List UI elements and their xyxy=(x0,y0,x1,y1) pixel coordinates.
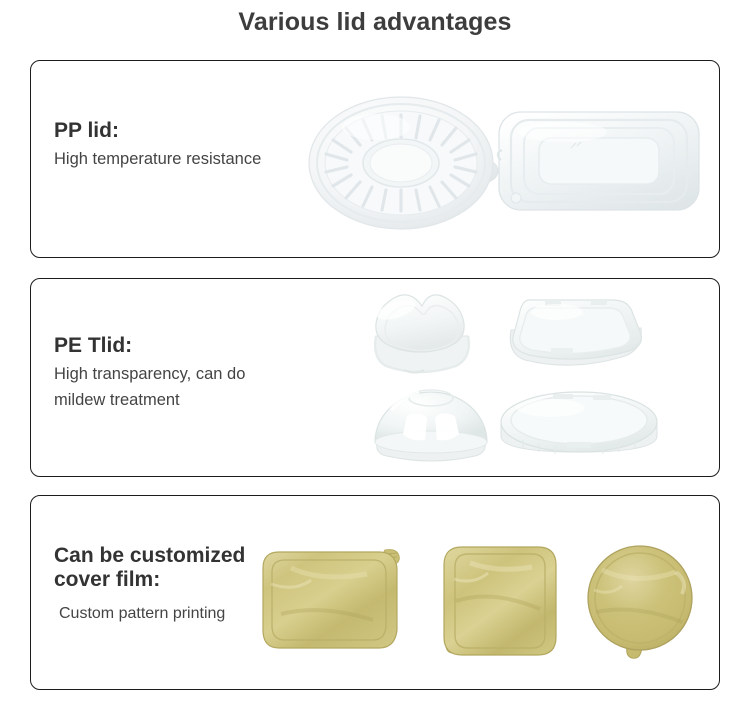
card-cover-film: Can be customized cover film: Custom pat… xyxy=(30,495,720,690)
gold-round-foil-image xyxy=(576,542,706,664)
square-pe-lid-image xyxy=(499,282,659,382)
heart-pe-lid-image xyxy=(356,284,496,384)
oval-pe-lid-image xyxy=(493,382,668,472)
card-pp-lid: PP lid: High temperature resistance xyxy=(30,60,720,258)
round-pp-lid-image xyxy=(306,91,521,236)
card-pe-title: PE Tlid: xyxy=(54,334,354,358)
dome-pe-lid-image xyxy=(361,376,501,471)
rectangular-pp-lid-image xyxy=(493,86,713,236)
card-pe-description: High transparency, can do mildew treatme… xyxy=(54,362,354,413)
card-pe-text-block: PE Tlid: High transparency, can do milde… xyxy=(54,334,354,413)
gold-square-foil-image xyxy=(436,541,571,663)
gold-rectangular-foil-image xyxy=(261,544,426,659)
card-pe-lid: PE Tlid: High transparency, can do milde… xyxy=(30,278,720,477)
page-title: Various lid advantages xyxy=(0,8,750,37)
lid-advantages-page: Various lid advantages PP lid: High temp… xyxy=(0,0,750,713)
